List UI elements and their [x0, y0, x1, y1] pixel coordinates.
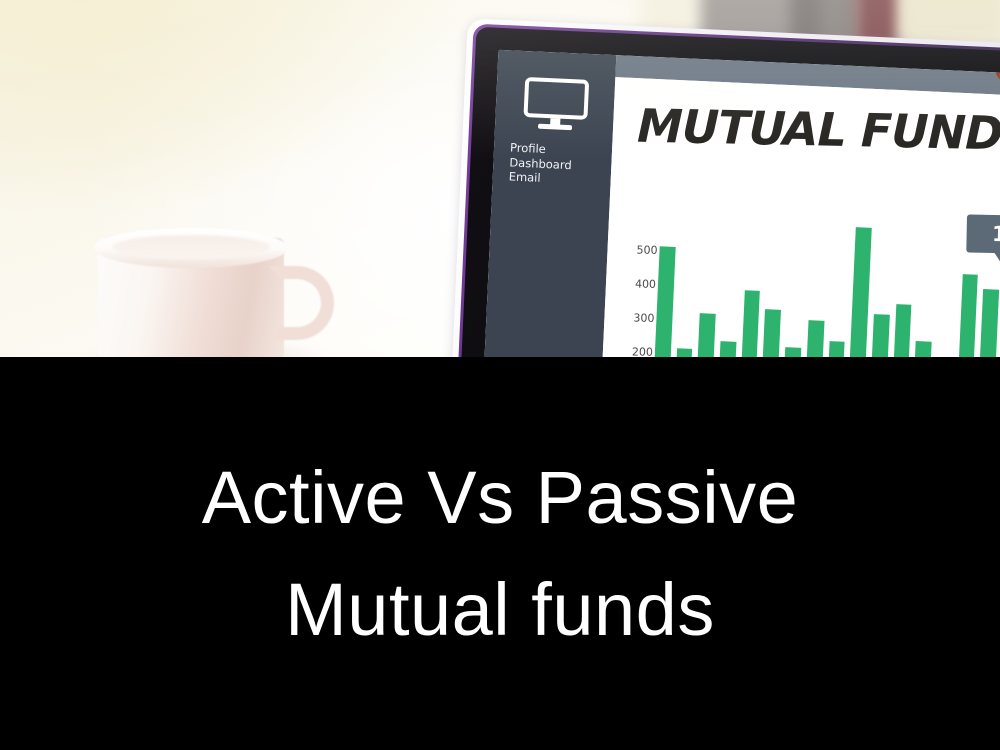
- bar: [827, 341, 844, 357]
- bar: [719, 342, 736, 357]
- sidebar-nav-list: Profile Dashboard Email: [508, 140, 610, 188]
- app-sidebar[interactable]: Profile Dashboard Email: [484, 50, 616, 357]
- photo-region: Profile Dashboard Email MUTUAL FUND 5004…: [0, 0, 1000, 357]
- bar: [957, 274, 978, 357]
- bar: [914, 341, 931, 357]
- bar: [697, 313, 715, 357]
- chart-tooltip-label: 199: [992, 222, 1000, 247]
- bar: [871, 314, 890, 357]
- y-tick-400: 400: [635, 277, 656, 290]
- bar: [762, 309, 781, 357]
- bar: [979, 289, 999, 357]
- laptop: Profile Dashboard Email MUTUAL FUND 5004…: [452, 18, 1000, 357]
- caption-line-1: Active Vs Passive: [202, 442, 799, 554]
- caption-line-2: Mutual funds: [285, 554, 715, 666]
- bar: [741, 290, 760, 357]
- bar: [784, 347, 801, 357]
- y-tick-500: 500: [636, 243, 657, 256]
- chart-plot-area: 500400300200: [602, 197, 1000, 357]
- bar: [849, 227, 872, 357]
- bar-series: [654, 209, 1000, 357]
- monitor-icon: [523, 77, 589, 132]
- caption-band: Active Vs Passive Mutual funds: [0, 357, 1000, 750]
- monitor-icon-base: [538, 124, 572, 131]
- y-axis-tick-labels: 500400300200: [610, 197, 660, 357]
- chart-tooltip-tail: [993, 252, 1000, 265]
- chart-title: MUTUAL FUND: [637, 99, 1000, 161]
- laptop-screen: Profile Dashboard Email MUTUAL FUND 5004…: [484, 50, 1000, 357]
- mug-handle: [268, 266, 334, 340]
- coffee-mug: [92, 222, 322, 357]
- chart-panel: MUTUAL FUND 500400300200 199: [602, 77, 1000, 357]
- y-tick-200: 200: [632, 345, 653, 357]
- mug-rim-inner: [112, 235, 270, 259]
- chart-tooltip: 199: [966, 214, 1000, 254]
- bar: [676, 348, 693, 357]
- bar: [654, 247, 675, 357]
- monitor-icon-frame: [523, 77, 589, 120]
- screenshot-stage: Profile Dashboard Email MUTUAL FUND 5004…: [0, 0, 1000, 750]
- bar: [806, 320, 824, 357]
- y-tick-300: 300: [633, 311, 654, 324]
- bar: [892, 305, 911, 357]
